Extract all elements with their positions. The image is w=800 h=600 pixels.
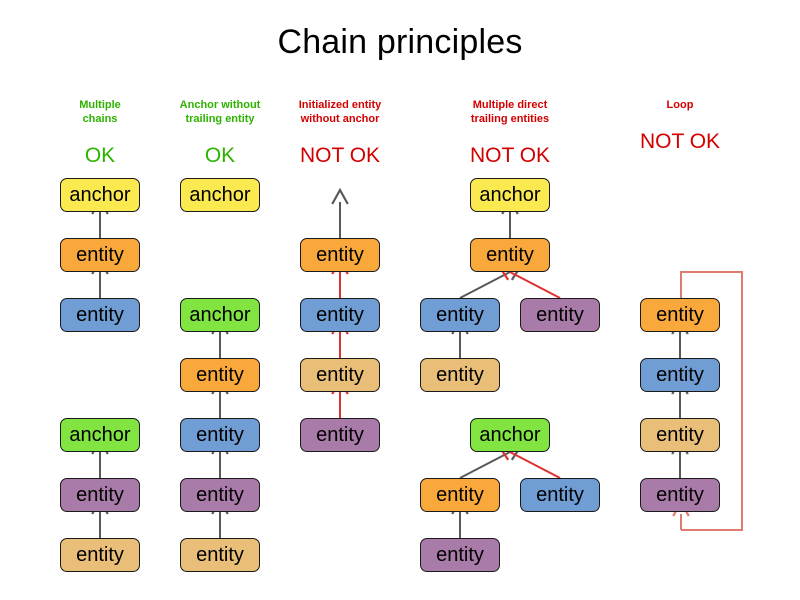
column-verdict: NOT OK	[420, 143, 600, 169]
node-entity-c1n3[interactable]: entity	[60, 298, 140, 332]
node-entity-c4n7[interactable]: entity	[420, 478, 500, 512]
column-verdict: NOT OK	[250, 143, 430, 169]
column-caption-line: Initialized entity	[250, 98, 430, 112]
node-entity-c3n3[interactable]: entity	[300, 358, 380, 392]
node-entity-c5n2[interactable]: entity	[640, 358, 720, 392]
edge-c4n7-to-c4n6	[460, 452, 510, 478]
node-entity-c1n2[interactable]: entity	[60, 238, 140, 272]
column-caption: Multiple directtrailing entities	[420, 98, 600, 126]
node-anchor-c2n2[interactable]: anchor	[180, 298, 260, 332]
column-caption-line: Loop	[590, 98, 770, 112]
column-verdict: NOT OK	[590, 129, 770, 155]
node-entity-c1n6[interactable]: entity	[60, 538, 140, 572]
column-caption: Loop	[590, 98, 770, 112]
node-entity-c4n2[interactable]: entity	[470, 238, 550, 272]
column-header-loop: LoopNOT OK	[590, 98, 770, 155]
node-entity-c4n8[interactable]: entity	[520, 478, 600, 512]
node-entity-c5n4[interactable]: entity	[640, 478, 720, 512]
node-anchor-c1n4[interactable]: anchor	[60, 418, 140, 452]
column-caption-line: trailing entities	[420, 112, 600, 126]
node-entity-c2n4[interactable]: entity	[180, 418, 260, 452]
node-anchor-c1n1[interactable]: anchor	[60, 178, 140, 212]
edge-c4n8-to-c4n6	[510, 452, 560, 478]
edge-c4n3-to-c4n2	[460, 272, 510, 298]
node-entity-c3n2[interactable]: entity	[300, 298, 380, 332]
node-entity-c2n3[interactable]: entity	[180, 358, 260, 392]
node-anchor-c4n6[interactable]: anchor	[470, 418, 550, 452]
node-entity-c3n1[interactable]: entity	[300, 238, 380, 272]
node-anchor-c2n1[interactable]: anchor	[180, 178, 260, 212]
node-entity-c4n5[interactable]: entity	[420, 358, 500, 392]
node-entity-c4n4[interactable]: entity	[520, 298, 600, 332]
node-entity-c4n3[interactable]: entity	[420, 298, 500, 332]
node-anchor-c4n1[interactable]: anchor	[470, 178, 550, 212]
column-caption: Initialized entitywithout anchor	[250, 98, 430, 126]
node-entity-c5n1[interactable]: entity	[640, 298, 720, 332]
column-caption-line: Multiple direct	[420, 98, 600, 112]
page-title: Chain principles	[0, 22, 800, 62]
column-caption-line: without anchor	[250, 112, 430, 126]
node-entity-c4n9[interactable]: entity	[420, 538, 500, 572]
diagram-canvas: Chain principles MultiplechainsOKAnchor …	[0, 0, 800, 600]
node-entity-c3n4[interactable]: entity	[300, 418, 380, 452]
node-entity-c2n6[interactable]: entity	[180, 538, 260, 572]
node-entity-c5n3[interactable]: entity	[640, 418, 720, 452]
column-header-multiple-direct-trailing-entities: Multiple directtrailing entitiesNOT OK	[420, 98, 600, 169]
column-header-initialized-entity-without-anchor: Initialized entitywithout anchorNOT OK	[250, 98, 430, 169]
node-entity-c2n5[interactable]: entity	[180, 478, 260, 512]
edge-c4n4-to-c4n2	[510, 272, 560, 298]
node-entity-c1n5[interactable]: entity	[60, 478, 140, 512]
